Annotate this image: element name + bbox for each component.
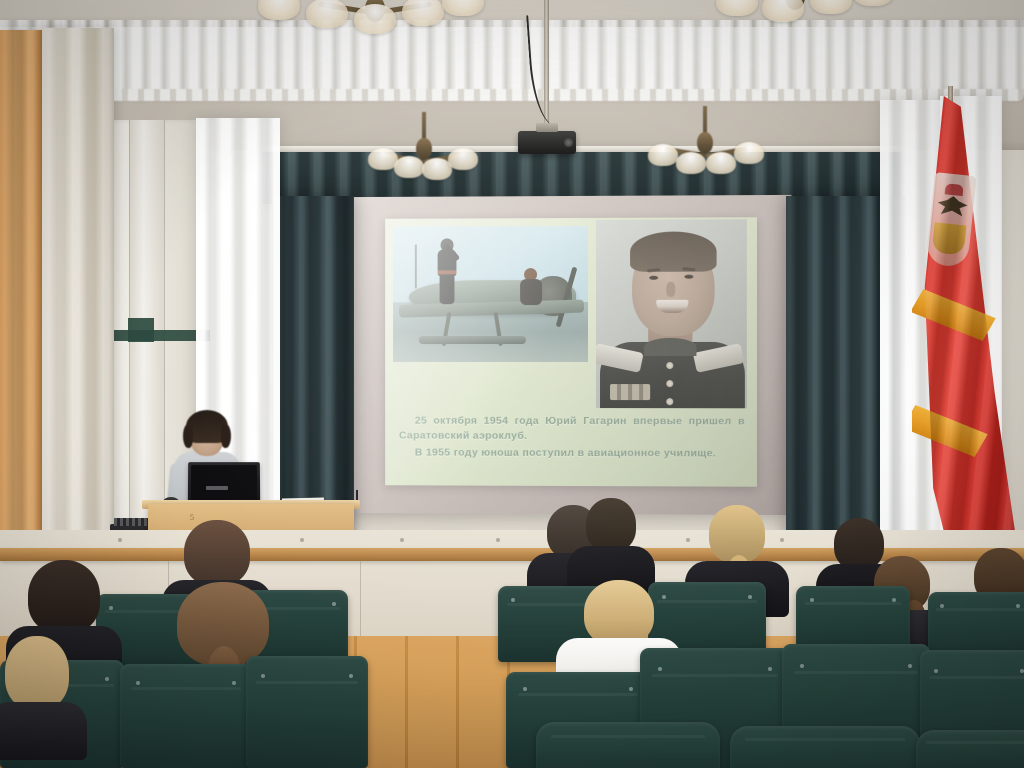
chandelier-shade (734, 142, 764, 164)
chandelier-body (697, 132, 713, 154)
chandelier-shade (258, 0, 300, 20)
chandelier-shade (648, 144, 678, 166)
student-body (0, 702, 87, 760)
curtain-folds (42, 28, 114, 613)
chandelier-shade (762, 0, 804, 22)
projector-bracket (536, 123, 558, 132)
student-head (586, 498, 636, 552)
side-curtain-cream (42, 28, 114, 613)
chandelier-shade (448, 148, 478, 170)
auditorium-seat[interactable] (916, 730, 1024, 768)
assembly-hall-photo: 25 октября 1954 года Юрий Гагарин впервы… (0, 0, 1024, 768)
student-head (5, 636, 69, 710)
chandelier-body (416, 138, 432, 160)
student-head (584, 580, 654, 646)
screen-sheen (354, 195, 792, 515)
chandelier-shade (706, 152, 736, 174)
ceiling-valance-curtain (0, 20, 1024, 95)
chandelier-shade (402, 0, 444, 26)
auditorium-seat[interactable] (536, 722, 720, 768)
wall-green-stripe-accent (128, 318, 154, 342)
student-center-2 (578, 498, 644, 590)
valance-pleats (0, 20, 1024, 95)
chandelier-stage-left (372, 112, 476, 172)
chandelier-shade (716, 0, 758, 16)
laptop-screen (188, 462, 260, 504)
student-head (28, 560, 100, 634)
valance-hem (0, 89, 1024, 101)
chandelier-shade (394, 156, 424, 178)
chandelier-shade (306, 0, 348, 28)
laptop-display (191, 465, 257, 501)
wall-panel-seam (360, 561, 361, 639)
chandelier-shade (810, 0, 852, 14)
projector-lens-icon (564, 138, 573, 147)
auditorium-seat[interactable] (246, 656, 368, 768)
student-head (184, 520, 250, 586)
chandelier-shade (676, 152, 706, 174)
chandelier-ceiling-left (300, 0, 450, 34)
student-left-2 (0, 636, 74, 756)
presenter-hair (186, 410, 228, 443)
chandelier-shade (354, 4, 396, 34)
projection-screen: 25 октября 1954 года Юрий Гагарин впервы… (354, 195, 792, 515)
chandelier-ceiling-right (720, 0, 870, 20)
chandelier-stage-right (650, 106, 760, 168)
ceiling-projector (518, 131, 576, 154)
auditorium-seat[interactable] (730, 726, 920, 768)
laptop-hinge (206, 486, 228, 490)
auditorium-seat[interactable] (120, 664, 252, 768)
